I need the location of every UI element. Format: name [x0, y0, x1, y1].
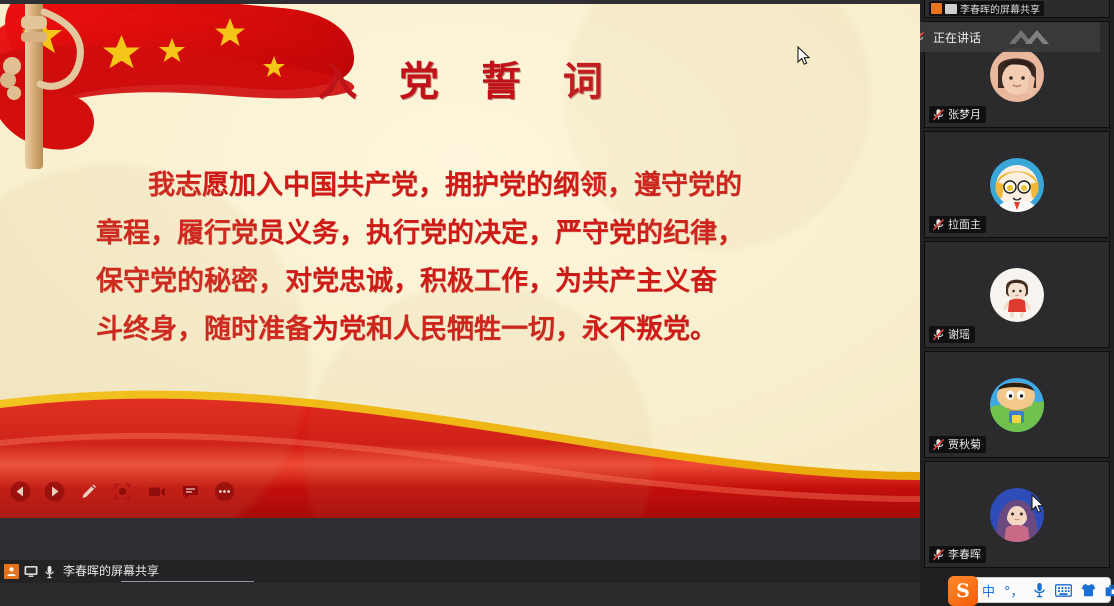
chevron-up-icons	[995, 26, 1061, 48]
participant-name: 谢瑶	[948, 329, 970, 341]
screen-share-owner-label: 李春晖的屏幕共享	[63, 565, 159, 578]
skin-theme-icon[interactable]	[1081, 583, 1096, 597]
taskbar-strip	[0, 583, 920, 606]
participant-name: 贾秋菊	[948, 439, 981, 451]
shared-screen-area: 入 党 誓 词 我志愿加入中国共产党，拥护党的纲领，遵守党的 章程，履行党员义务…	[0, 0, 920, 583]
partial-tile-label-chip: 李春晖的屏幕共享	[929, 1, 1044, 16]
avatar	[990, 158, 1044, 212]
oath-line-1: 我志愿加入中国共产党，拥护党的纲领，遵守党的	[96, 162, 836, 210]
previous-slide-button[interactable]	[10, 481, 31, 502]
monitor-icon	[945, 4, 957, 14]
slide-toolbar[interactable]	[10, 481, 235, 502]
status-underline	[121, 581, 254, 582]
toolbox-icon[interactable]	[1105, 584, 1114, 597]
screen-share-status-bar: 李春晖的屏幕共享	[0, 560, 920, 583]
monitor-icon	[23, 564, 38, 579]
oath-text-block: 我志愿加入中国共产党，拥护党的纲领，遵守党的 章程，履行党员义务，执行党的决定，…	[96, 162, 836, 354]
participant-name-chip: 李春晖	[929, 546, 986, 563]
participant-name-chip: 谢瑶	[929, 326, 975, 343]
ime-punctuation-mode[interactable]: °，	[1004, 581, 1024, 600]
mic-muted-icon	[932, 438, 945, 451]
avatar	[990, 268, 1044, 322]
person-icon	[4, 564, 19, 579]
sogou-logo-icon[interactable]: S	[948, 576, 978, 606]
participant-name-chip: 拉面主	[929, 216, 986, 233]
sogou-ime-toolbar[interactable]: S 中 °，	[951, 577, 1111, 603]
participant-name: 李春晖	[948, 549, 981, 561]
speaking-tooltip-label: 正在讲话	[933, 29, 981, 46]
voice-input-icon[interactable]	[1033, 582, 1046, 598]
partial-tile-label: 李春晖的屏幕共享	[960, 1, 1040, 16]
participant-tile[interactable]: 贾秋菊	[924, 351, 1110, 458]
mic-muted-icon	[932, 218, 945, 231]
avatar	[990, 48, 1044, 102]
participant-tile-partial[interactable]: 李春晖的屏幕共享	[924, 0, 1110, 18]
participant-name-chip: 贾秋菊	[929, 436, 986, 453]
avatar	[990, 378, 1044, 432]
speaking-tooltip: 正在讲话	[920, 22, 1100, 52]
oath-line-4: 斗终身，随时准备为党和人民牺牲一切，永不叛党。	[96, 306, 836, 354]
speaker-notes-button[interactable]	[180, 481, 201, 502]
laser-pointer-button[interactable]	[112, 481, 133, 502]
participant-name: 拉面主	[948, 219, 981, 231]
participant-video-rail[interactable]: 李春晖的屏幕共享	[920, 0, 1114, 606]
mic-muted-icon	[932, 548, 945, 561]
participant-tile[interactable]: 拉面主	[924, 131, 1110, 238]
pen-annotate-button[interactable]	[78, 481, 99, 502]
participant-name-chip: 张梦月	[929, 106, 986, 123]
presentation-slide[interactable]: 入 党 誓 词 我志愿加入中国共产党，拥护党的纲领，遵守党的 章程，履行党员义务…	[0, 4, 920, 518]
ime-language-mode[interactable]: 中	[982, 581, 995, 600]
mic-muted-icon	[920, 31, 925, 44]
soft-keyboard-icon[interactable]	[1055, 584, 1072, 597]
participant-tile[interactable]: 李春晖	[924, 461, 1110, 568]
mic-muted-icon	[932, 108, 945, 121]
oath-line-2: 章程，履行党员义务，执行党的决定，严守党的纪律，	[96, 210, 836, 258]
next-slide-button[interactable]	[44, 481, 65, 502]
oath-line-3: 保守党的秘密，对党忠诚，积极工作，为共产主义奋	[96, 258, 836, 306]
more-options-button[interactable]	[214, 481, 235, 502]
record-video-button[interactable]	[146, 481, 167, 502]
participant-name: 张梦月	[948, 109, 981, 121]
mic-muted-icon	[932, 328, 945, 341]
participant-tile[interactable]: 谢瑶	[924, 241, 1110, 348]
mic-icon	[42, 564, 57, 579]
avatar	[990, 488, 1044, 542]
slide-title: 入 党 誓 词	[0, 49, 920, 107]
meeting-screen-share-window: 入 党 誓 词 我志愿加入中国共产党，拥护党的纲领，遵守党的 章程，履行党员义务…	[0, 0, 1114, 606]
person-icon	[931, 3, 942, 14]
